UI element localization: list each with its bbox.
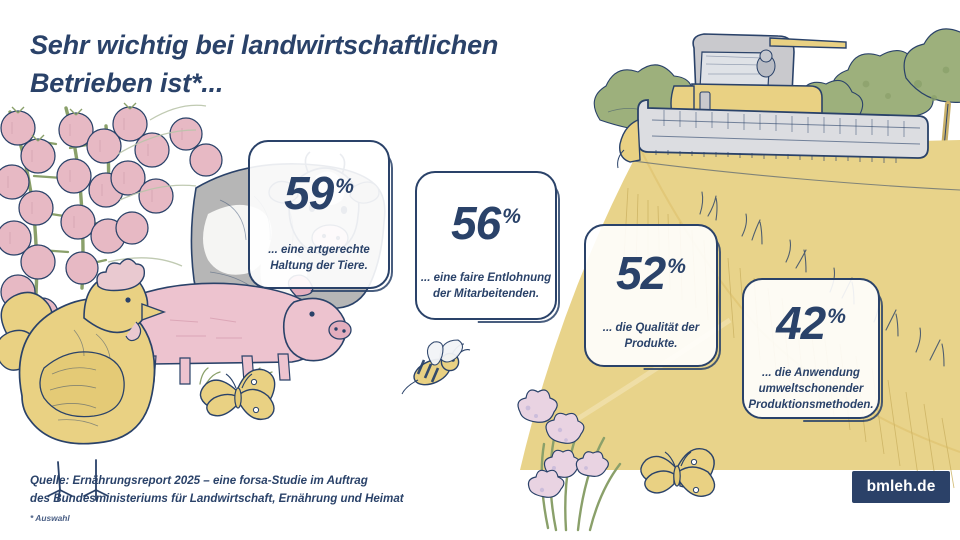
meadow-flowers-icon [518, 390, 620, 530]
infographic-canvas: Sehr wichtig bei landwirtschaftlichen Be… [0, 0, 960, 540]
stat-value: 42% [776, 300, 846, 346]
stat-card: 42% ... die Anwendung umweltschonender P… [742, 278, 880, 419]
stat-caption: ... eine faire Entlohnung der Mitarbeite… [421, 271, 551, 303]
selection-footnote: * Auswahl [30, 513, 70, 523]
stat-unit: % [502, 205, 521, 228]
stat-unit: % [827, 305, 846, 328]
stat-unit: % [667, 255, 686, 278]
stat-card: 59% ... eine artgerechte Haltung der Tie… [248, 140, 390, 289]
trees-icon [594, 29, 960, 148]
stat-caption: ... die Anwendung umweltschonender Produ… [748, 366, 873, 414]
stat-value: 52% [616, 250, 686, 296]
page-title: Sehr wichtig bei landwirtschaftlichen Be… [30, 26, 590, 103]
stat-caption: ... die Qualität der Produkte. [603, 321, 700, 353]
butterfly-left-icon [200, 369, 274, 419]
stat-number: 56 [451, 197, 500, 249]
stat-value: 56% [451, 200, 521, 246]
bee-icon [402, 340, 470, 394]
stat-card: 52% ... die Qualität der Produkte. [584, 224, 718, 367]
source-note: Quelle: Ernährungsreport 2025 – eine for… [30, 472, 510, 508]
stat-unit: % [335, 175, 354, 198]
stat-number: 52 [616, 247, 665, 299]
chicken-icon [0, 259, 164, 500]
tomato-vine-icon [0, 103, 222, 330]
stat-value: 59% [284, 170, 354, 216]
bmleh-logo[interactable]: bmleh.de [852, 471, 950, 503]
stat-number: 42 [776, 297, 825, 349]
pig-icon [112, 275, 351, 384]
stat-card: 56% ... eine faire Entlohnung der Mitarb… [415, 171, 557, 320]
combine-harvester-icon [618, 34, 928, 168]
butterfly-right-icon [641, 449, 715, 497]
stat-number: 59 [284, 167, 333, 219]
stat-caption: ... eine artgerechte Haltung der Tiere. [268, 243, 370, 275]
